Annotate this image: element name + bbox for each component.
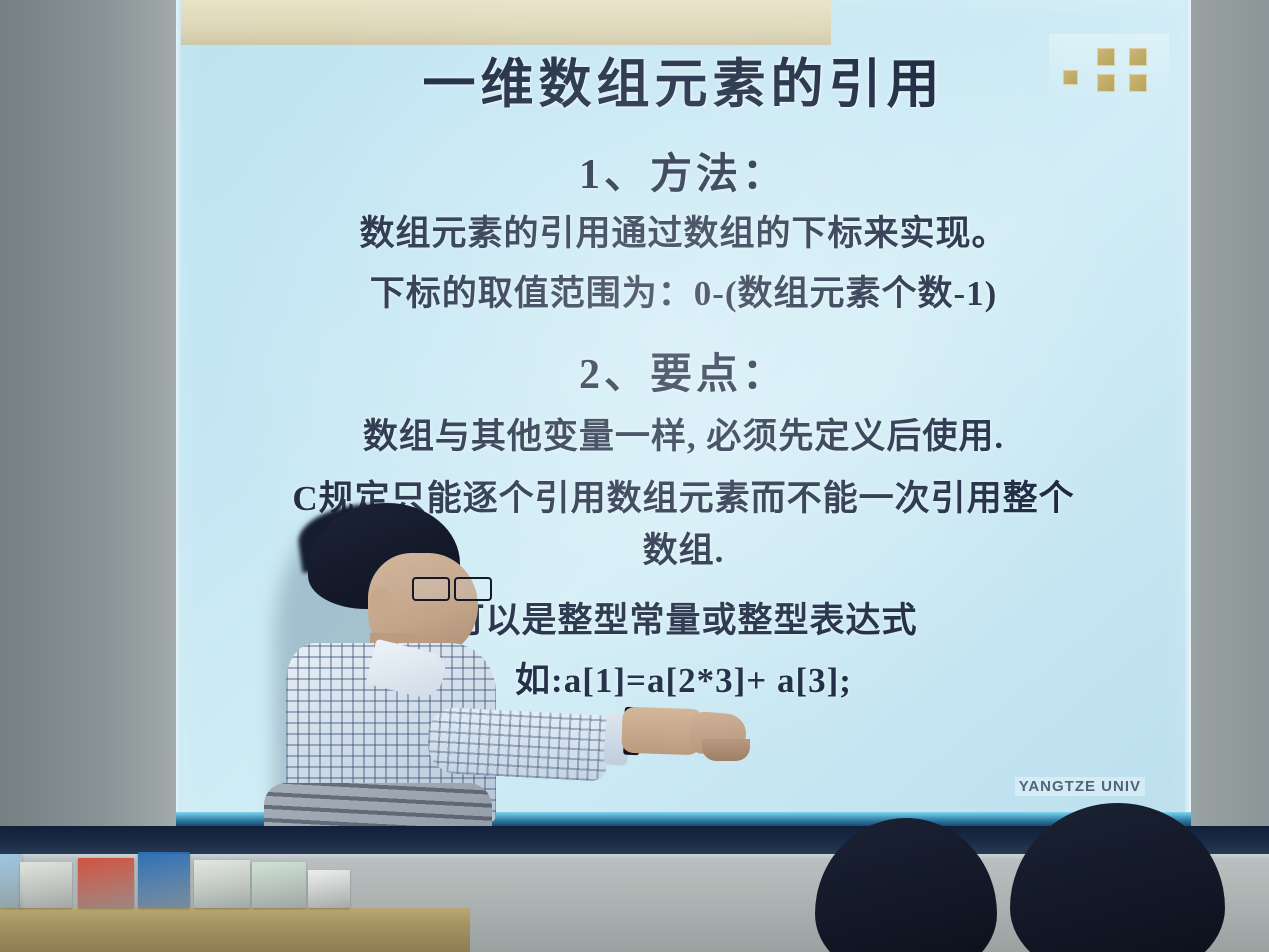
- box-white-3: [308, 870, 350, 908]
- box-red: [78, 858, 134, 908]
- section-2-heading: 2、要点：: [176, 340, 1191, 401]
- decor-square-4: [1129, 48, 1147, 66]
- box-green: [252, 862, 306, 908]
- wooden-ledge: [0, 908, 470, 952]
- section-2-line-1: 数组与其他变量一样, 必须先定义后使用.: [176, 408, 1191, 459]
- classroom-scene: 一维数组元素的引用 1、方法： 数组元素的引用通过数组的下标来实现。 下标的取值…: [0, 0, 1269, 952]
- book-blue-edge: [0, 854, 22, 908]
- decor-square-1: [1063, 70, 1078, 85]
- slide-title: 一维数组元素的引用: [176, 42, 1191, 118]
- wall-left-shading: [0, 0, 180, 840]
- box-white: [20, 862, 72, 908]
- decorative-squares-group: [1063, 40, 1163, 102]
- lecturer-fingers: [702, 739, 750, 761]
- section-1-line-2: 下标的取值范围为：0-(数组元素个数-1): [176, 265, 1191, 316]
- lecturer-ear: [370, 587, 392, 615]
- box-white-2: [194, 860, 250, 908]
- wall-right-shading: [1184, 0, 1269, 845]
- section-1-line-1: 数组元素的引用通过数组的下标来实现。: [176, 205, 1191, 256]
- section-1-heading: 1、方法：: [176, 140, 1191, 201]
- decor-square-5: [1129, 74, 1147, 92]
- lecturer-upper-arm: [426, 706, 609, 781]
- decor-square-2: [1097, 48, 1115, 66]
- decor-square-3: [1097, 74, 1115, 92]
- glasses-icon: [408, 573, 494, 599]
- book-blue: [138, 852, 190, 908]
- slide-watermark: YANGTZE UNIV: [1015, 777, 1145, 796]
